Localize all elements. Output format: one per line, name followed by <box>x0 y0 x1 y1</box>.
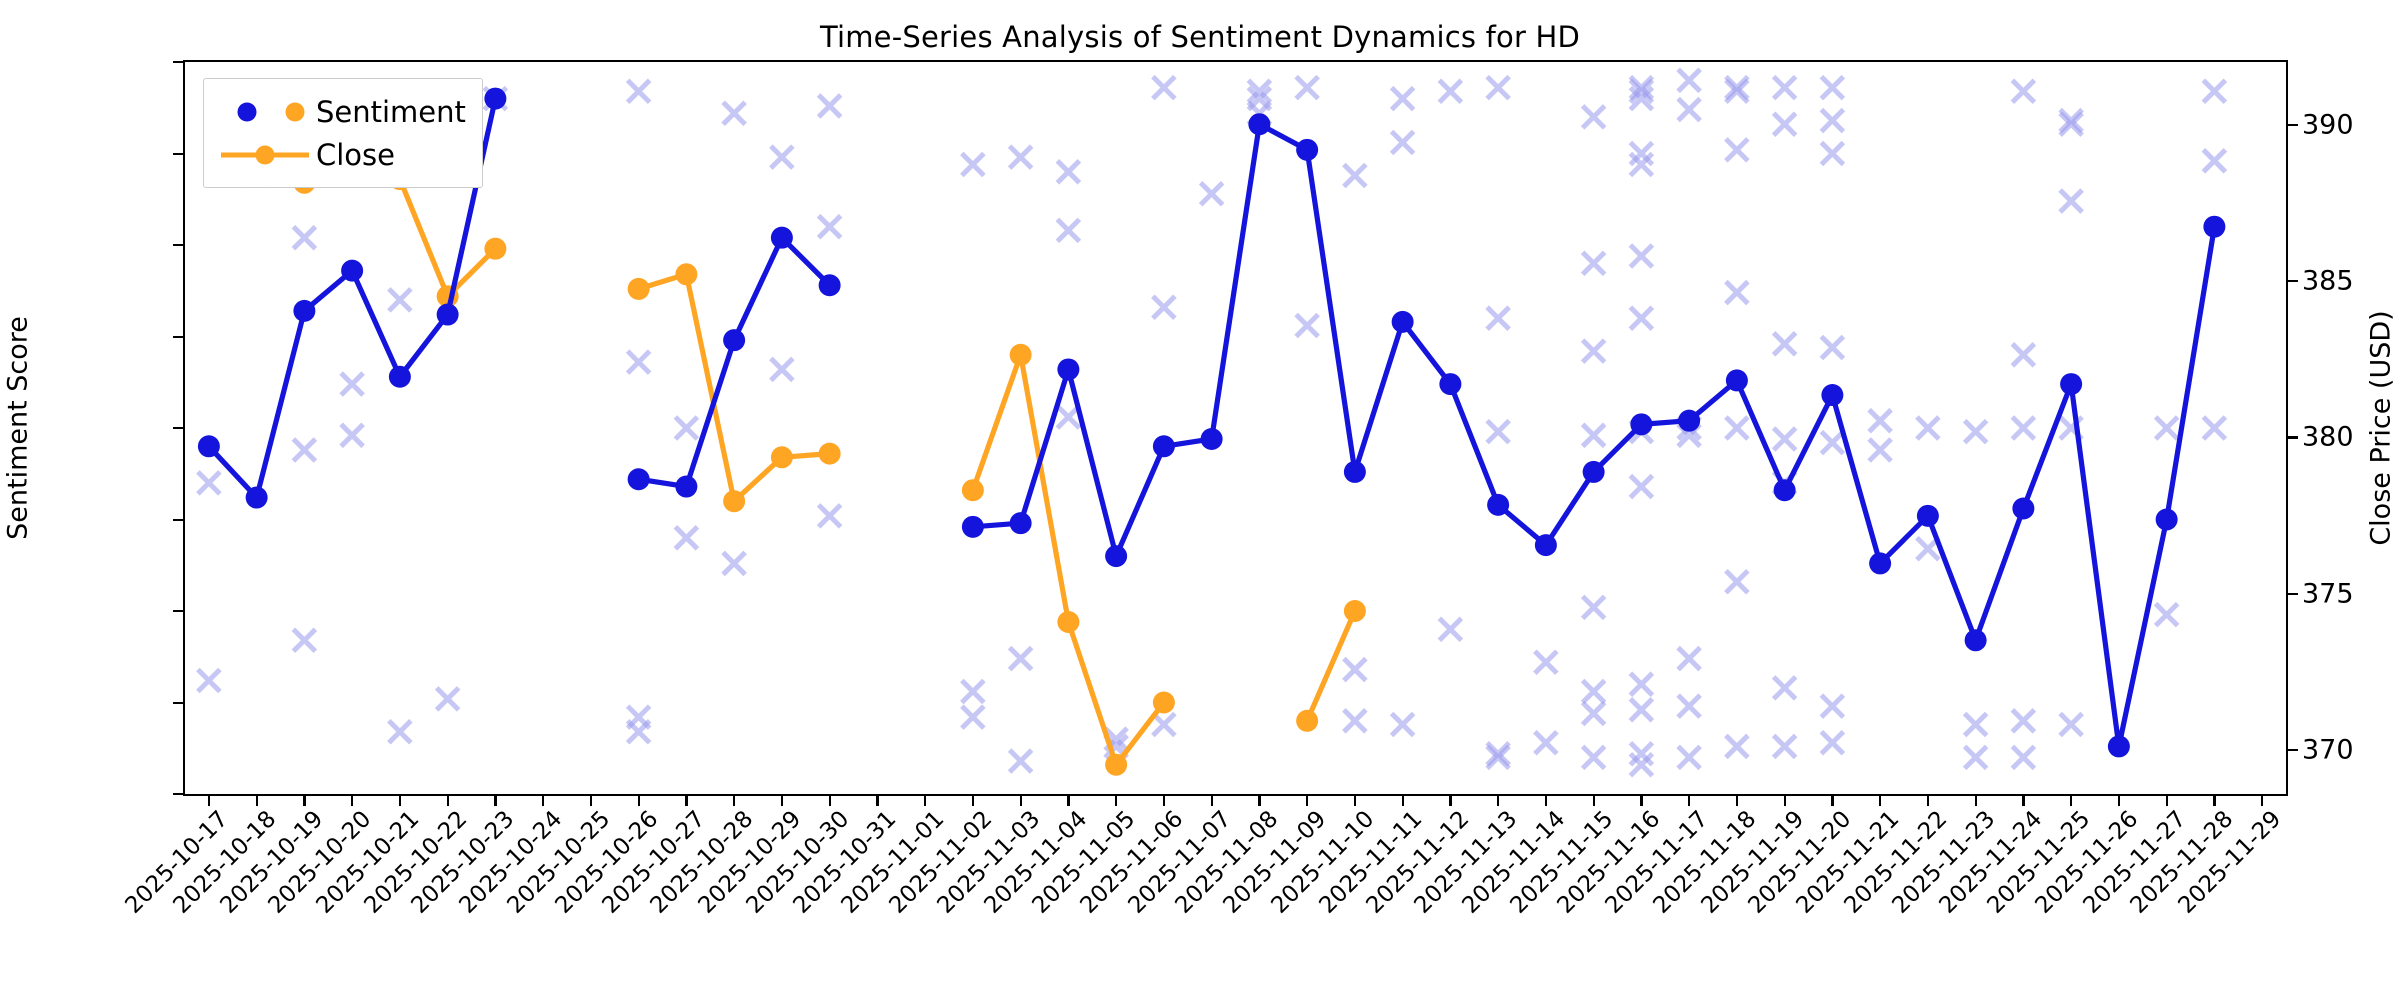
y-tick-right-3: 375 <box>2302 578 2354 609</box>
x-tickmark-32 <box>1736 796 1738 806</box>
scatter-x-51 <box>1392 88 1414 110</box>
sentiment-series-marker-20 <box>1344 461 1366 483</box>
close-series-marker-8 <box>771 446 793 468</box>
scatter-x-81 <box>1630 699 1652 721</box>
scatter-x-101 <box>1774 428 1796 450</box>
scatter-x-111 <box>1821 732 1843 754</box>
x-tickmark-28 <box>1545 796 1547 806</box>
sentiment-series-marker-32 <box>1917 505 1939 527</box>
y-tickmark-left-5 <box>173 519 183 521</box>
scatter-x-53 <box>1392 713 1414 735</box>
x-tickmark-37 <box>1975 796 1977 806</box>
sentiment-series-marker-37 <box>2156 509 2178 531</box>
scatter-x-70 <box>1583 746 1605 768</box>
scatter-x-47 <box>1296 77 1318 99</box>
scatter-x-116 <box>1965 421 1987 443</box>
sentiment-series-marker-25 <box>1583 461 1605 483</box>
scatter-x-48 <box>1344 164 1366 186</box>
sentiment-series-marker-1 <box>246 487 268 509</box>
x-tickmark-13 <box>829 796 831 806</box>
x-tickmark-15 <box>924 796 926 806</box>
sentiment-series-marker-27 <box>1678 410 1700 432</box>
sentiment-series-line-1 <box>639 238 830 487</box>
scatter-x-42 <box>1201 183 1223 205</box>
sentiment-series-marker-6 <box>484 88 506 110</box>
scatter-x-119 <box>2012 80 2034 102</box>
y-tickmark-right-0 <box>2288 124 2298 126</box>
close-series-marker-13 <box>1105 754 1127 776</box>
y-tick-right-2: 380 <box>2302 422 2354 453</box>
scatter-x-65 <box>1583 340 1605 362</box>
scatter-x-67 <box>1583 596 1605 618</box>
x-tickmark-42 <box>2213 796 2215 806</box>
x-tickmark-2 <box>303 796 305 806</box>
sentiment-series-marker-34 <box>2012 498 2034 520</box>
y-tick-right-0: 390 <box>2302 109 2354 140</box>
scatter-x-93 <box>1726 139 1748 161</box>
scatter-x-79 <box>1630 476 1652 498</box>
y-tickmark-right-1 <box>2288 280 2298 282</box>
scatter-x-32 <box>1010 648 1032 670</box>
scatter-x-5 <box>293 439 315 461</box>
chart-title: Time-Series Analysis of Sentiment Dynami… <box>0 20 2400 54</box>
scatter-x-113 <box>1869 439 1891 461</box>
scatter-x-66 <box>1583 424 1605 446</box>
sentiment-series-marker-23 <box>1487 494 1509 516</box>
scatter-x-31 <box>1010 146 1032 168</box>
legend-label-sentiment: Sentiment <box>316 95 466 129</box>
x-tickmark-19 <box>1115 796 1117 806</box>
close-series-marker-10 <box>962 479 984 501</box>
scatter-x-19 <box>675 527 697 549</box>
legend-marker-0 <box>238 102 257 121</box>
scatter-x-92 <box>1726 80 1748 102</box>
x-tickmark-16 <box>972 796 974 806</box>
close-series-marker-7 <box>723 490 745 512</box>
legend-key-close <box>217 142 312 168</box>
sentiment-series-marker-29 <box>1774 479 1796 501</box>
x-tickmark-30 <box>1640 796 1642 806</box>
scatter-x-61 <box>1535 732 1557 754</box>
x-tickmark-18 <box>1067 796 1069 806</box>
close-series-marker-6 <box>675 263 697 285</box>
y-tick-right-4: 370 <box>2302 735 2354 766</box>
scatter-x-94 <box>1726 282 1748 304</box>
sentiment-series-marker-24 <box>1535 534 1557 556</box>
y-tickmark-left-8 <box>173 793 183 795</box>
x-tickmark-22 <box>1258 796 1260 806</box>
close-series-marker-4 <box>484 238 506 260</box>
scatter-x-29 <box>962 681 984 703</box>
scatter-x-130 <box>2156 604 2178 626</box>
scatter-x-97 <box>1726 735 1748 757</box>
scatter-x-69 <box>1583 702 1605 724</box>
x-tickmark-7 <box>542 796 544 806</box>
y-axis-left-label: Sentiment Score <box>3 316 34 540</box>
scatter-x-1 <box>198 472 220 494</box>
sentiment-series-marker-22 <box>1439 373 1461 395</box>
sentiment-series-marker-4 <box>389 366 411 388</box>
x-tickmark-43 <box>2261 796 2263 806</box>
scatter-x-49 <box>1344 710 1366 732</box>
close-series-marker-16 <box>1344 600 1366 622</box>
scatter-x-21 <box>723 552 745 574</box>
scatter-x-118 <box>1965 746 1987 768</box>
sentiment-series-marker-18 <box>1248 113 1270 135</box>
y-tickmark-left-4 <box>173 427 183 429</box>
legend-key-sentiment <box>217 99 312 125</box>
sentiment-series-marker-35 <box>2060 373 2082 395</box>
scatter-x-95 <box>1726 417 1748 439</box>
x-tickmark-38 <box>2022 796 2024 806</box>
x-tickmark-14 <box>876 796 878 806</box>
scatter-x-56 <box>1487 77 1509 99</box>
sentiment-series-marker-3 <box>341 260 363 282</box>
scatter-x-58 <box>1487 746 1509 768</box>
sentiment-series-marker-0 <box>198 435 220 457</box>
sentiment-series-marker-7 <box>628 468 650 490</box>
scatter-x-112 <box>1869 410 1891 432</box>
scatter-x-98 <box>1774 77 1796 99</box>
x-tickmark-20 <box>1163 796 1165 806</box>
scatter-x-100 <box>1774 333 1796 355</box>
y-tickmark-left-3 <box>173 336 183 338</box>
x-tickmark-40 <box>2118 796 2120 806</box>
x-tickmark-8 <box>590 796 592 806</box>
x-tickmark-4 <box>399 796 401 806</box>
sentiment-series-marker-17 <box>1201 428 1223 450</box>
scatter-x-11 <box>437 688 459 710</box>
x-tickmark-34 <box>1831 796 1833 806</box>
plot-inner <box>185 62 2286 794</box>
scatter-x-30 <box>962 706 984 728</box>
x-tickmark-24 <box>1354 796 1356 806</box>
scatter-x-52 <box>1392 132 1414 154</box>
scatter-x-0 <box>198 670 220 692</box>
scatter-x-18 <box>628 351 650 373</box>
scatter-x-20 <box>675 417 697 439</box>
plot-area <box>183 60 2288 796</box>
scatter-x-115 <box>1917 417 1939 439</box>
legend-marker-1 <box>286 102 305 121</box>
y-tickmark-right-4 <box>2288 749 2298 751</box>
scatter-x-34 <box>1057 219 1079 241</box>
sentiment-series-marker-14 <box>1057 358 1079 380</box>
x-tickmark-26 <box>1449 796 1451 806</box>
scatter-x-55 <box>1439 618 1461 640</box>
scatter-x-132 <box>2203 150 2225 172</box>
legend-item-close[interactable]: Close <box>217 133 466 176</box>
scatter-x-91 <box>1726 77 1748 99</box>
scatter-x-121 <box>2012 417 2034 439</box>
sentiment-series-marker-15 <box>1105 545 1127 567</box>
x-tickmark-21 <box>1211 796 1213 806</box>
scatter-x-76 <box>1630 245 1652 267</box>
series-canvas <box>185 62 2286 794</box>
scatter-x-84 <box>1678 69 1700 91</box>
scatter-x-104 <box>1774 735 1796 757</box>
sentiment-series-marker-30 <box>1821 384 1843 406</box>
legend-label-close: Close <box>316 138 395 172</box>
x-tickmark-35 <box>1879 796 1881 806</box>
scatter-x-46 <box>1296 315 1318 337</box>
sentiment-series-marker-9 <box>723 329 745 351</box>
scatter-x-133 <box>2203 417 2225 439</box>
y-tickmark-left-1 <box>173 153 183 155</box>
scatter-x-59 <box>1487 307 1509 329</box>
close-series-marker-14 <box>1153 692 1175 714</box>
scatter-x-17 <box>628 80 650 102</box>
scatter-x-33 <box>1010 750 1032 772</box>
legend-marker-2 <box>256 145 275 164</box>
y-tickmark-right-2 <box>2288 436 2298 438</box>
y-tickmark-left-6 <box>173 610 183 612</box>
close-series-marker-9 <box>819 443 841 465</box>
scatter-x-90 <box>1678 746 1700 768</box>
scatter-x-22 <box>723 102 745 124</box>
sentiment-series-marker-21 <box>1392 311 1414 333</box>
x-tickmark-11 <box>733 796 735 806</box>
x-tickmark-5 <box>447 796 449 806</box>
x-tickmark-3 <box>351 796 353 806</box>
sentiment-series-marker-8 <box>675 476 697 498</box>
scatter-x-25 <box>819 505 841 527</box>
scatter-x-7 <box>341 424 363 446</box>
close-series-line-1 <box>639 274 830 501</box>
sentiment-series-marker-16 <box>1153 435 1175 457</box>
scatter-x-110 <box>1821 695 1843 717</box>
close-series-marker-11 <box>1010 344 1032 366</box>
scatter-x-62 <box>1535 651 1557 673</box>
scatter-x-39 <box>1153 77 1175 99</box>
x-tickmark-25 <box>1402 796 1404 806</box>
scatter-x-80 <box>1630 673 1652 695</box>
scatter-x-4 <box>293 227 315 249</box>
x-tickmark-41 <box>2166 796 2168 806</box>
sentiment-series-marker-12 <box>962 516 984 538</box>
scatter-x-27 <box>819 216 841 238</box>
scatter-x-68 <box>1583 681 1605 703</box>
scatter-x-36 <box>1057 161 1079 183</box>
scatter-x-54 <box>1439 80 1461 102</box>
scatter-x-122 <box>2012 710 2034 732</box>
scatter-x-10 <box>389 289 411 311</box>
scatter-x-123 <box>2012 746 2034 768</box>
scatter-x-103 <box>1774 677 1796 699</box>
x-tickmark-31 <box>1688 796 1690 806</box>
scatter-x-60 <box>1487 421 1509 443</box>
scatter-x-131 <box>2203 80 2225 102</box>
scatter-x-23 <box>771 358 793 380</box>
close-series-marker-5 <box>628 278 650 300</box>
scatter-x-28 <box>962 153 984 175</box>
scatter-x-107 <box>1821 143 1843 165</box>
sentiment-series-marker-10 <box>771 227 793 249</box>
chart-legend[interactable]: Sentiment Close <box>203 78 483 188</box>
x-tickmark-39 <box>2070 796 2072 806</box>
scatter-x-40 <box>1153 296 1175 318</box>
sentiment-series-marker-31 <box>1869 552 1891 574</box>
y-tickmark-right-3 <box>2288 593 2298 595</box>
x-tickmark-1 <box>256 796 258 806</box>
x-tickmark-10 <box>685 796 687 806</box>
y-tickmark-left-0 <box>173 61 183 63</box>
scatter-x-128 <box>2060 713 2082 735</box>
scatter-x-50 <box>1344 659 1366 681</box>
y-tickmark-left-2 <box>173 244 183 246</box>
scatter-x-105 <box>1821 77 1843 99</box>
scatter-x-89 <box>1678 695 1700 717</box>
scatter-x-96 <box>1726 571 1748 593</box>
scatter-x-57 <box>1487 743 1509 765</box>
scatter-x-124 <box>2060 110 2082 132</box>
scatter-x-8 <box>389 721 411 743</box>
chart-figure: Time-Series Analysis of Sentiment Dynami… <box>0 0 2400 1000</box>
scatter-x-3 <box>293 629 315 651</box>
scatter-x-129 <box>2156 417 2178 439</box>
scatter-x-109 <box>1821 432 1843 454</box>
sentiment-series-marker-13 <box>1010 512 1032 534</box>
sentiment-series-marker-36 <box>2108 735 2130 757</box>
y-axis-right-label: Close Price (USD) <box>2366 310 2397 545</box>
y-tickmark-left-7 <box>173 702 183 704</box>
x-tickmark-23 <box>1306 796 1308 806</box>
scatter-x-120 <box>2012 344 2034 366</box>
x-tickmark-27 <box>1497 796 1499 806</box>
x-tickmark-6 <box>494 796 496 806</box>
sentiment-series-marker-38 <box>2203 216 2225 238</box>
y-tick-right-1: 385 <box>2302 265 2354 296</box>
scatter-x-16 <box>628 721 650 743</box>
sentiment-series-marker-11 <box>819 274 841 296</box>
scatter-x-106 <box>1821 110 1843 132</box>
sentiment-series-marker-26 <box>1630 413 1652 435</box>
x-tickmark-33 <box>1784 796 1786 806</box>
scatter-x-125 <box>2060 113 2082 135</box>
scatter-x-77 <box>1630 307 1652 329</box>
x-tickmark-0 <box>208 796 210 806</box>
x-tickmark-17 <box>1020 796 1022 806</box>
close-series-marker-12 <box>1057 611 1079 633</box>
scatter-x-99 <box>1774 113 1796 135</box>
scatter-x-85 <box>1678 99 1700 121</box>
sentiment-series-marker-5 <box>437 304 459 326</box>
scatter-x-64 <box>1583 252 1605 274</box>
scatter-x-108 <box>1821 336 1843 358</box>
scatter-x-117 <box>1965 713 1987 735</box>
scatter-x-88 <box>1678 648 1700 670</box>
close-series-marker-15 <box>1296 710 1318 732</box>
x-tickmark-9 <box>638 796 640 806</box>
scatter-x-63 <box>1583 106 1605 128</box>
sentiment-series-marker-19 <box>1296 139 1318 161</box>
scatter-x-26 <box>819 95 841 117</box>
sentiment-series-marker-28 <box>1726 369 1748 391</box>
scatter-x-24 <box>771 146 793 168</box>
x-tickmark-36 <box>1927 796 1929 806</box>
sentiment-series-marker-33 <box>1965 629 1987 651</box>
scatter-x-6 <box>341 373 363 395</box>
sentiment-series-marker-2 <box>293 300 315 322</box>
legend-item-sentiment[interactable]: Sentiment <box>217 90 466 133</box>
x-tickmark-12 <box>781 796 783 806</box>
x-tickmark-29 <box>1593 796 1595 806</box>
scatter-x-126 <box>2060 190 2082 212</box>
